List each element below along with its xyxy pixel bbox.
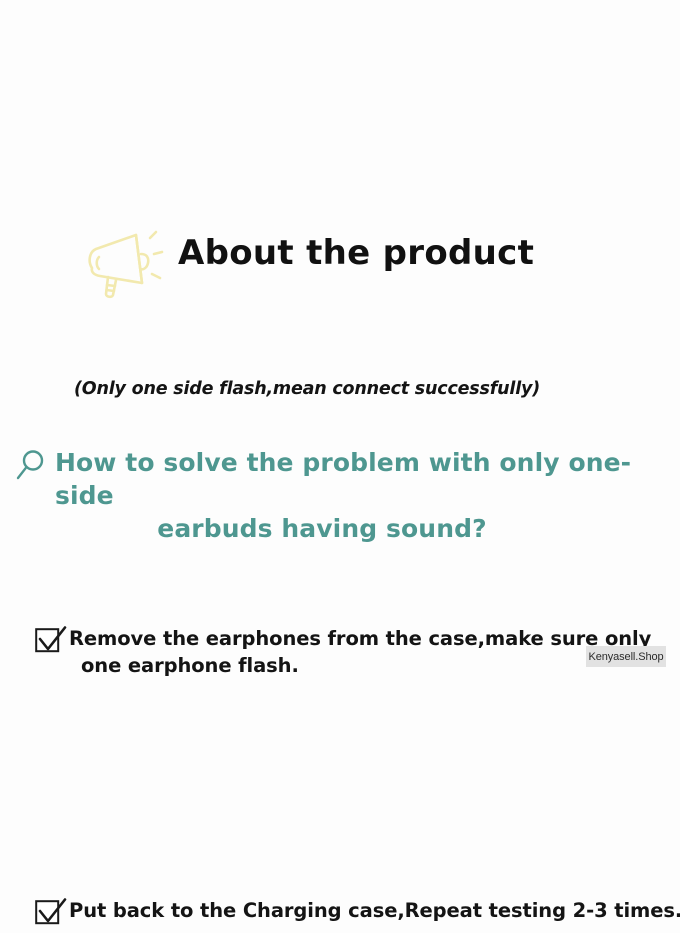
checklist-item-2-text: Put back to the Charging case,Repeat tes…	[69, 897, 669, 924]
watermark-badge: Kenyasell.Shop	[586, 646, 666, 667]
title-row: About the product	[0, 112, 680, 196]
product-info-slide: About the product How to solve the probl…	[0, 0, 680, 680]
page-title: About the product	[178, 233, 534, 273]
checklist-item-1-note: (Only one side flash,mean connect succes…	[74, 379, 540, 399]
checkbox-checked-icon	[34, 898, 68, 928]
megaphone-icon	[84, 228, 164, 300]
checklist-item-1-line-1: Remove the earphones from the case,make …	[69, 627, 651, 650]
question-line-2: earbuds having sound?	[52, 512, 592, 545]
question-line-1: How to solve the problem with only one-s…	[55, 446, 660, 512]
checklist-item-1-line-2: one earphone flash.	[81, 652, 659, 679]
checklist-item-1-text: Remove the earphones from the case,make …	[69, 625, 659, 679]
question-heading: How to solve the problem with only one-s…	[52, 446, 660, 545]
magnifier-icon	[10, 446, 50, 486]
checkbox-checked-icon	[34, 626, 68, 656]
